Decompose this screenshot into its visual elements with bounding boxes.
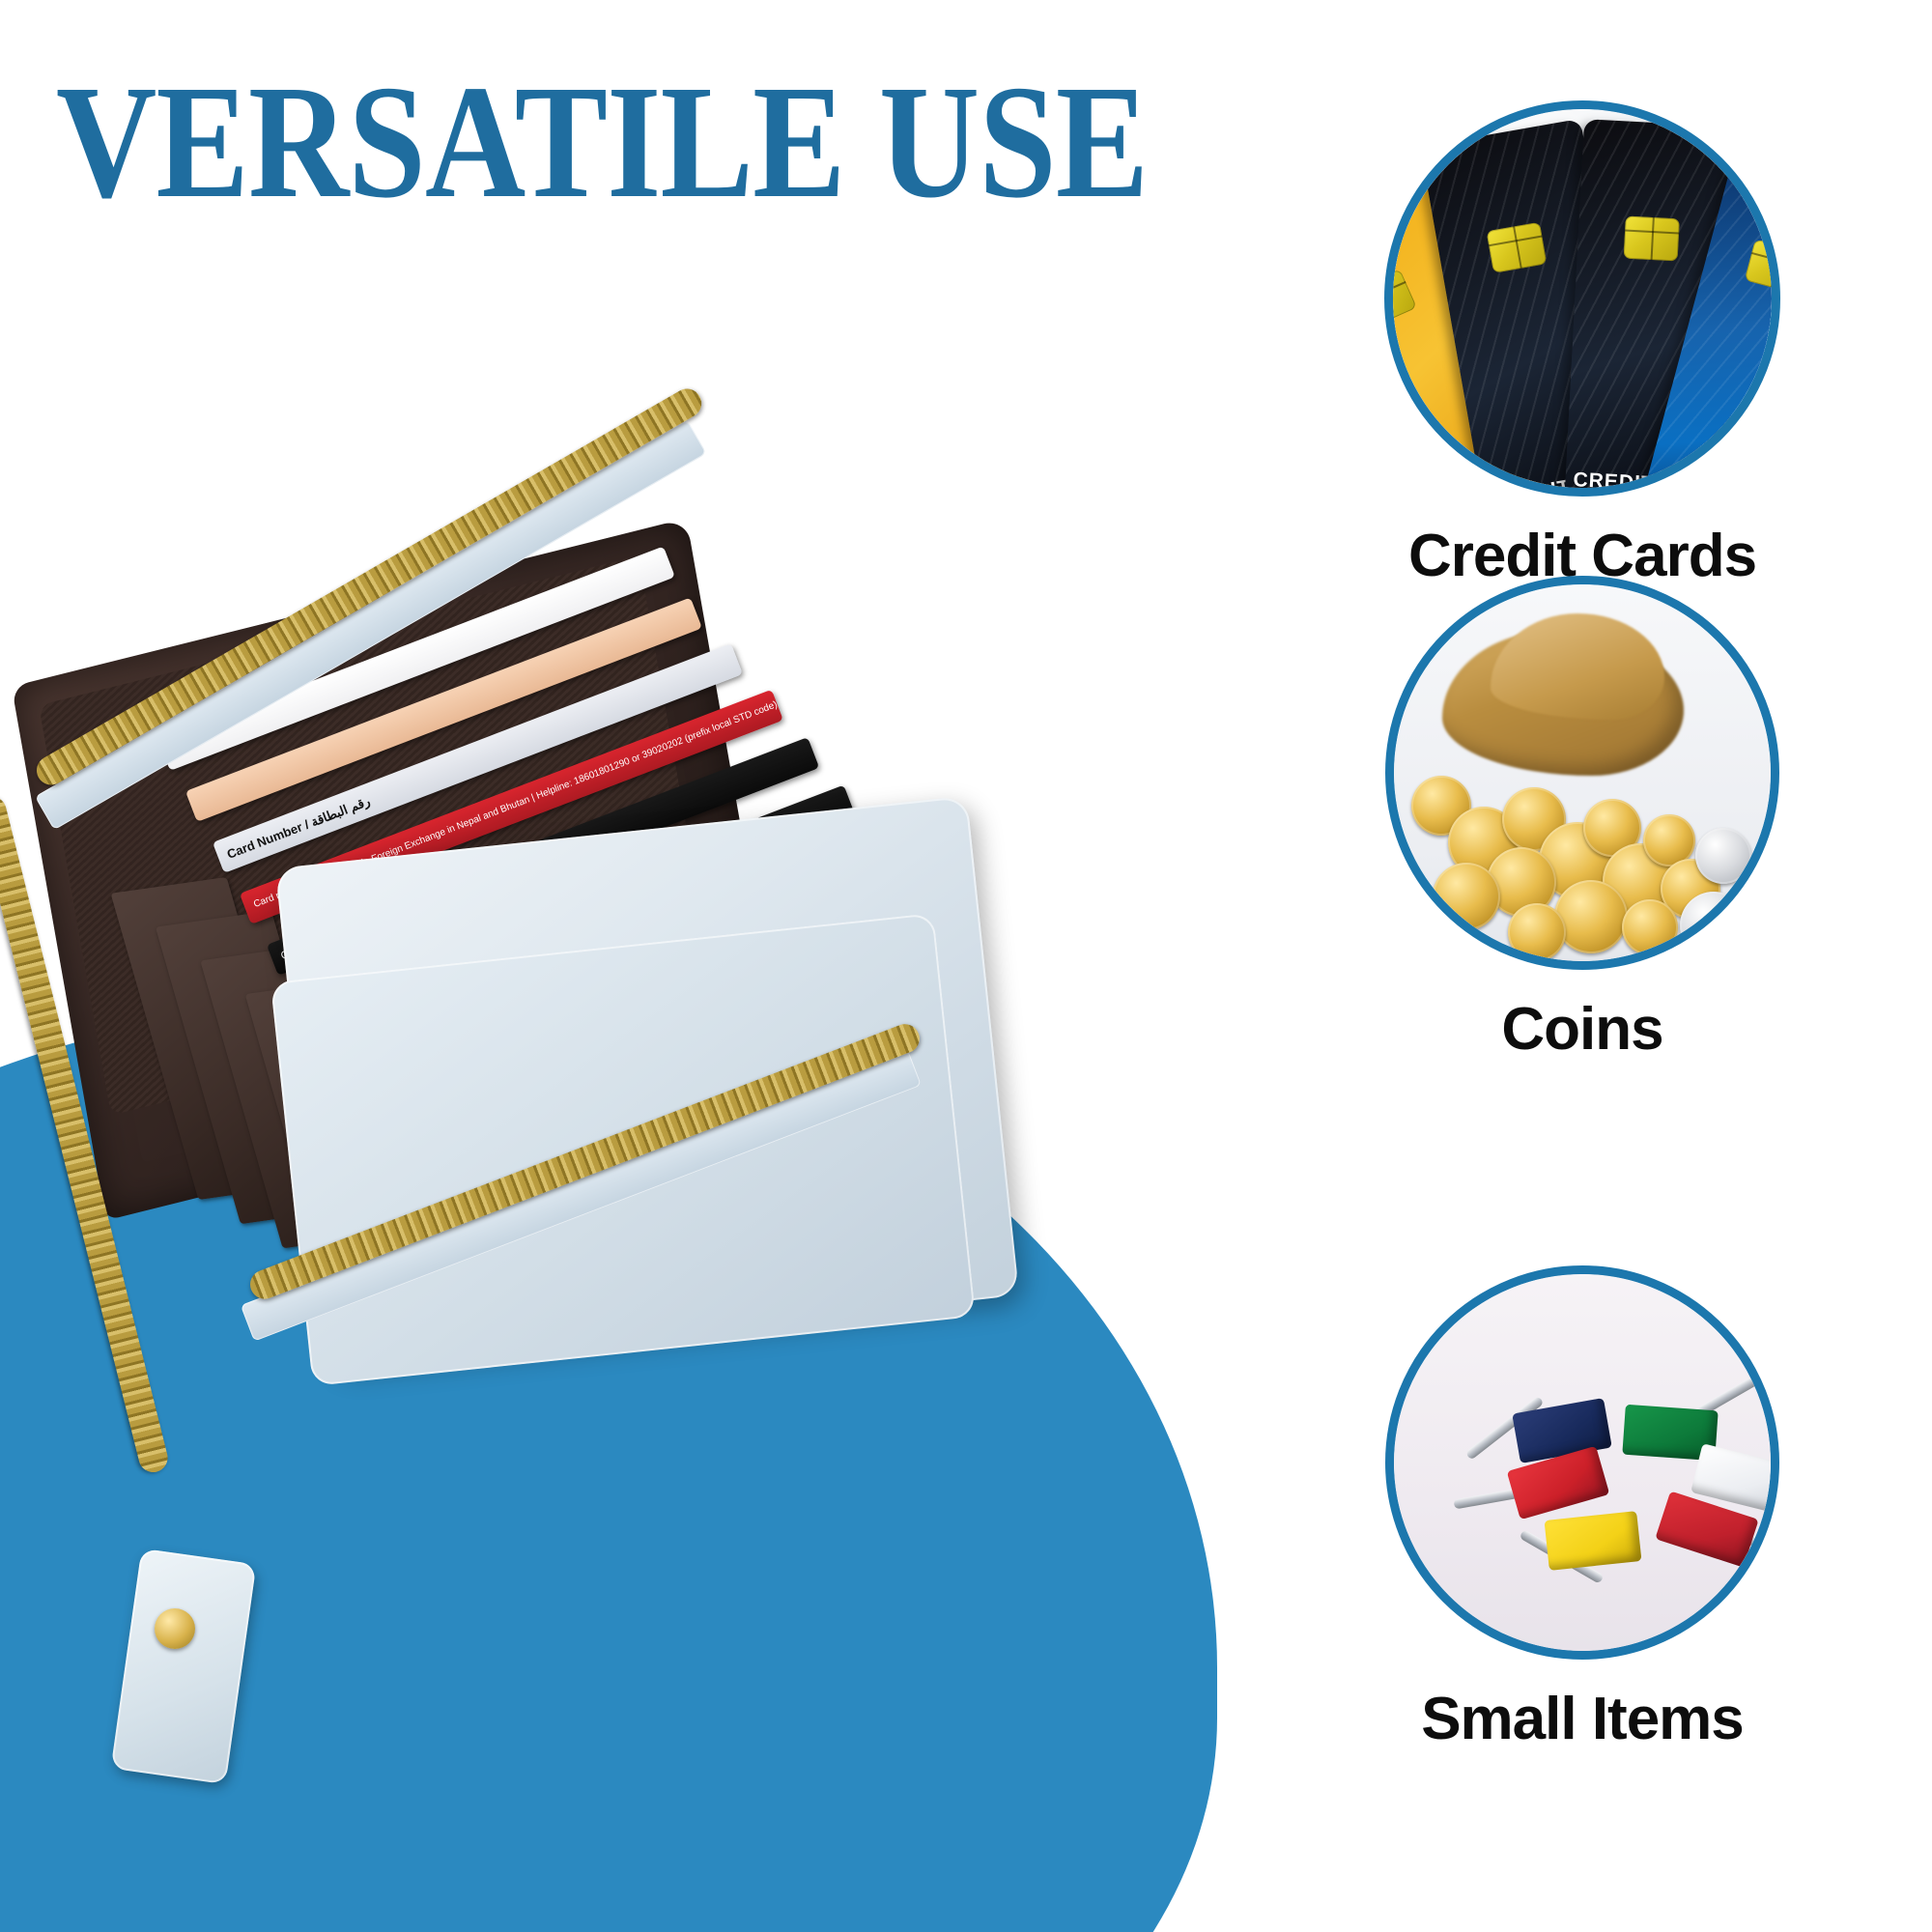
wallet-pull-strap: [111, 1548, 257, 1784]
feature-coins-circle: [1385, 576, 1779, 970]
feature-credit-cards-circle: CREDIT CARD CREDIT CARD CREDIT CARD CRED…: [1384, 100, 1780, 497]
product-photo-wallet: Card Number / رقم البطاقة Card not valid…: [10, 541, 1072, 1835]
wallet-rivet: [155, 1608, 195, 1649]
feature-small-items-circle: [1385, 1265, 1779, 1660]
gold-coins-icon: [1394, 584, 1771, 961]
page-title: VERSATILE USE: [56, 70, 1148, 214]
feature-credit-cards: CREDIT CARD CREDIT CARD CREDIT CARD CRED…: [1341, 100, 1824, 590]
feature-coins: Coins: [1341, 576, 1824, 1064]
credit-card-fan-icon: CREDIT CARD CREDIT CARD CREDIT CARD CRED…: [1393, 109, 1772, 488]
feature-coins-label: Coins: [1341, 995, 1824, 1064]
binder-clips-icon: [1394, 1274, 1771, 1651]
feature-small-items: Small Items: [1341, 1265, 1824, 1753]
feature-small-items-label: Small Items: [1341, 1685, 1824, 1753]
